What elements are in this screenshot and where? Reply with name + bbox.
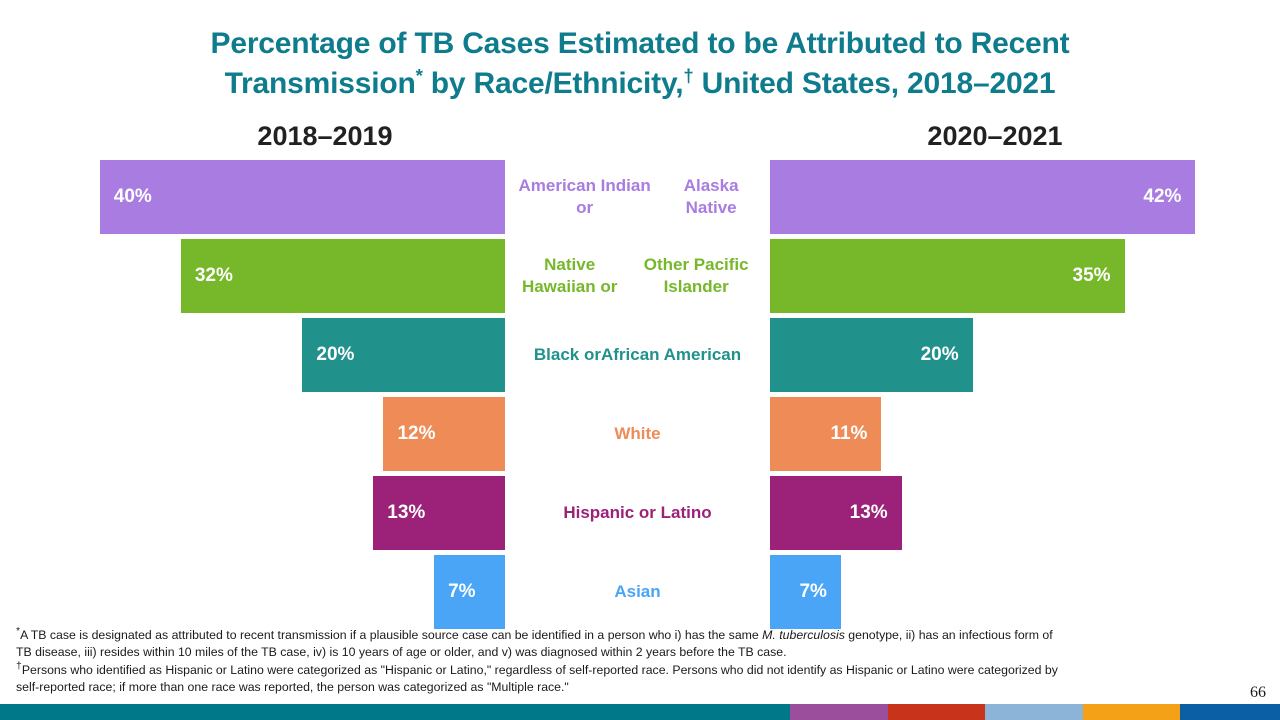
category-label-line-1: Hispanic or Latino <box>563 502 711 524</box>
footnotes: *A TB case is designated as attributed t… <box>16 627 1261 697</box>
bar-left-5[interactable]: 13% <box>373 476 505 550</box>
category-label-line-1: American Indian or <box>511 175 658 219</box>
bar-right-1[interactable]: 42% <box>770 160 1195 234</box>
bar-row: 32%Native Hawaiian orOther Pacific Islan… <box>0 239 1280 313</box>
title-line-1: Percentage of TB Cases Estimated to be A… <box>211 27 1070 60</box>
panel-header-left: 2018–2019 <box>175 121 475 152</box>
bar-right-6[interactable]: 7% <box>770 555 841 629</box>
bar-left-value-5: 13% <box>373 502 439 524</box>
title-asterisk-marker: * <box>416 65 423 86</box>
bar-right-value-2: 35% <box>1059 265 1125 287</box>
category-label-line-1: White <box>614 423 660 445</box>
bar-left-value-3: 20% <box>302 344 368 366</box>
bar-left-6[interactable]: 7% <box>434 555 505 629</box>
panel-header-right: 2020–2021 <box>845 121 1145 152</box>
strip-segment-red <box>888 704 985 720</box>
category-label-3: Black orAfrican American <box>505 318 770 392</box>
category-label-2: Native Hawaiian orOther Pacific Islander <box>505 239 770 313</box>
category-label-4: White <box>505 397 770 471</box>
bar-right-4[interactable]: 11% <box>770 397 881 471</box>
bar-left-value-6: 7% <box>434 581 489 603</box>
category-label-5: Hispanic or Latino <box>505 476 770 550</box>
bar-right-5[interactable]: 13% <box>770 476 902 550</box>
bar-row: 20%Black orAfrican American20% <box>0 318 1280 392</box>
bar-row: 40%American Indian orAlaska Native42% <box>0 160 1280 234</box>
bar-row: 12%White11% <box>0 397 1280 471</box>
bar-left-1[interactable]: 40% <box>100 160 505 234</box>
bar-row: 7%Asian7% <box>0 555 1280 629</box>
strip-segment-light-blue <box>985 704 1083 720</box>
strip-segment-teal <box>0 704 790 720</box>
category-label-6: Asian <box>505 555 770 629</box>
bar-left-value-1: 40% <box>100 186 166 208</box>
category-label-line-2: Other Pacific Islander <box>628 254 764 298</box>
bar-left-value-4: 12% <box>383 423 449 445</box>
title-line-2-part-a: Transmission <box>225 67 416 100</box>
category-label-line-1: Black or <box>534 344 601 366</box>
title-dagger-marker: † <box>683 65 693 86</box>
footnote-1-text-b: genotype, ii) has an infectious form of <box>845 628 1053 642</box>
bar-left-value-2: 32% <box>181 265 247 287</box>
strip-segment-orange <box>1083 704 1180 720</box>
page-number: 66 <box>1250 684 1266 702</box>
bar-right-value-3: 20% <box>907 344 973 366</box>
footnote-2-line-2: self-reported race; if more than one rac… <box>16 679 1261 696</box>
bar-right-value-1: 42% <box>1129 186 1195 208</box>
footnote-2-text-a: Persons who identified as Hispanic or La… <box>22 663 1058 677</box>
category-label-line-2: Alaska Native <box>658 175 764 219</box>
bar-right-2[interactable]: 35% <box>770 239 1125 313</box>
category-label-line-2: African American <box>601 344 741 366</box>
bar-right-3[interactable]: 20% <box>770 318 973 392</box>
bar-left-2[interactable]: 32% <box>181 239 505 313</box>
bar-left-4[interactable]: 12% <box>383 397 505 471</box>
bottom-color-strip <box>0 704 1280 720</box>
category-label-1: American Indian orAlaska Native <box>505 160 770 234</box>
category-label-line-1: Native Hawaiian or <box>511 254 628 298</box>
footnote-1-text-a: A TB case is designated as attributed to… <box>20 628 762 642</box>
category-label-line-1: Asian <box>614 581 660 603</box>
footnote-1-line-1: *A TB case is designated as attributed t… <box>16 627 1261 644</box>
title-line-2-part-b: by Race/Ethnicity, <box>423 67 684 100</box>
bar-row: 13%Hispanic or Latino13% <box>0 476 1280 550</box>
page-title: Percentage of TB Cases Estimated to be A… <box>110 24 1170 103</box>
title-line-2-part-c: United States, 2018–2021 <box>694 67 1056 100</box>
bar-right-value-4: 11% <box>816 423 881 445</box>
footnote-1-italic-term: M. tuberculosis <box>762 628 845 642</box>
strip-segment-dark-blue <box>1180 704 1280 720</box>
butterfly-bar-chart: 40%American Indian orAlaska Native42%32%… <box>0 160 1280 625</box>
footnote-2-line-1: †Persons who identified as Hispanic or L… <box>16 662 1261 679</box>
bar-right-value-6: 7% <box>785 581 840 603</box>
bar-left-3[interactable]: 20% <box>302 318 505 392</box>
strip-segment-purple <box>790 704 888 720</box>
bar-right-value-5: 13% <box>836 502 902 524</box>
footnote-1-line-2: TB disease, iii) resides within 10 miles… <box>16 644 1261 661</box>
